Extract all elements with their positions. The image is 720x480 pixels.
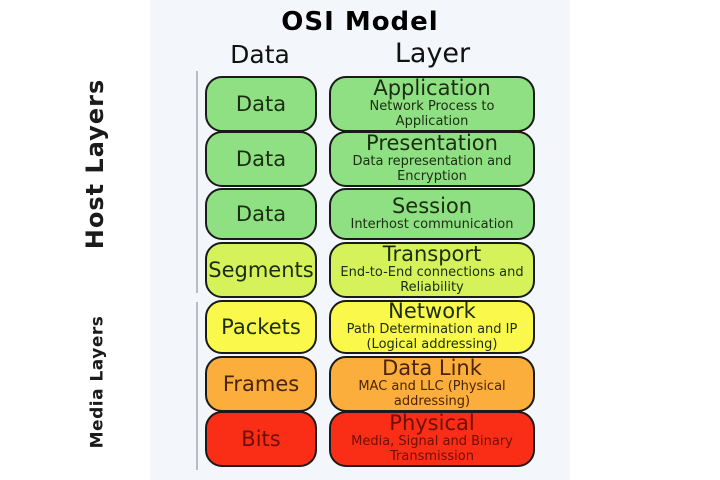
layer-description: Interhost communication bbox=[347, 218, 516, 233]
page-title: OSI Model bbox=[150, 7, 570, 37]
layer-row: BitsPhysicalMedia, Signal and Binary Tra… bbox=[205, 411, 535, 467]
group-bracket-host-layers bbox=[196, 71, 198, 293]
layer-pill-presentation[interactable]: PresentationData representation and Encr… bbox=[329, 131, 535, 187]
pdu-pill-session[interactable]: Data bbox=[205, 188, 317, 240]
column-header-pdu: Data bbox=[200, 40, 320, 69]
layer-row: PacketsNetworkPath Determination and IP … bbox=[205, 300, 535, 354]
layer-description: Path Determination and IP (Logical addre… bbox=[331, 323, 533, 352]
pdu-pill-physical[interactable]: Bits bbox=[205, 411, 317, 467]
layer-name: Transport bbox=[383, 244, 482, 265]
pdu-label: Data bbox=[236, 203, 286, 225]
layer-row: DataPresentationData representation and … bbox=[205, 131, 535, 187]
pdu-label: Frames bbox=[223, 373, 299, 395]
layer-name: Data Link bbox=[382, 358, 482, 379]
layer-name: Network bbox=[388, 301, 476, 322]
group-bracket-media-layers bbox=[196, 302, 198, 470]
pdu-label: Bits bbox=[241, 428, 280, 450]
pdu-pill-presentation[interactable]: Data bbox=[205, 131, 317, 187]
layer-description: MAC and LLC (Physical addressing) bbox=[331, 380, 533, 409]
layer-pill-session[interactable]: SessionInterhost communication bbox=[329, 188, 535, 240]
osi-model-diagram: OSI Model Data Layer Host Layers Media L… bbox=[0, 0, 720, 480]
pdu-label: Segments bbox=[208, 259, 313, 281]
layer-pill-transport[interactable]: TransportEnd-to-End connections and Reli… bbox=[329, 242, 535, 298]
pdu-pill-network[interactable]: Packets bbox=[205, 300, 317, 354]
layer-name: Presentation bbox=[366, 133, 498, 154]
layer-description: Data representation and Encryption bbox=[331, 155, 533, 184]
layer-description: Media, Signal and Binary Transmission bbox=[331, 435, 533, 464]
layer-row: FramesData LinkMAC and LLC (Physical add… bbox=[205, 356, 535, 412]
group-label-host-layers: Host Layers bbox=[81, 64, 109, 264]
layer-pill-physical[interactable]: PhysicalMedia, Signal and Binary Transmi… bbox=[329, 411, 535, 467]
pdu-pill-transport[interactable]: Segments bbox=[205, 242, 317, 298]
layer-pill-application[interactable]: ApplicationNetwork Process to Applicatio… bbox=[329, 76, 535, 132]
layer-name: Physical bbox=[389, 413, 474, 434]
layer-name: Application bbox=[373, 78, 490, 99]
column-header-layer: Layer bbox=[330, 38, 535, 69]
layer-name: Session bbox=[392, 196, 472, 217]
layer-description: End-to-End connections and Reliability bbox=[331, 266, 533, 295]
pdu-pill-data-link[interactable]: Frames bbox=[205, 356, 317, 412]
pdu-label: Packets bbox=[221, 316, 301, 338]
group-label-media-layers: Media Layers bbox=[88, 305, 108, 460]
layer-row: SegmentsTransportEnd-to-End connections … bbox=[205, 242, 535, 298]
pdu-label: Data bbox=[236, 93, 286, 115]
pdu-pill-application[interactable]: Data bbox=[205, 76, 317, 132]
pdu-label: Data bbox=[236, 148, 286, 170]
layer-row: DataApplicationNetwork Process to Applic… bbox=[205, 76, 535, 132]
layer-pill-network[interactable]: NetworkPath Determination and IP (Logica… bbox=[329, 300, 535, 354]
layer-pill-data-link[interactable]: Data LinkMAC and LLC (Physical addressin… bbox=[329, 356, 535, 412]
layer-row: DataSessionInterhost communication bbox=[205, 188, 535, 240]
layer-description: Network Process to Application bbox=[331, 100, 533, 129]
